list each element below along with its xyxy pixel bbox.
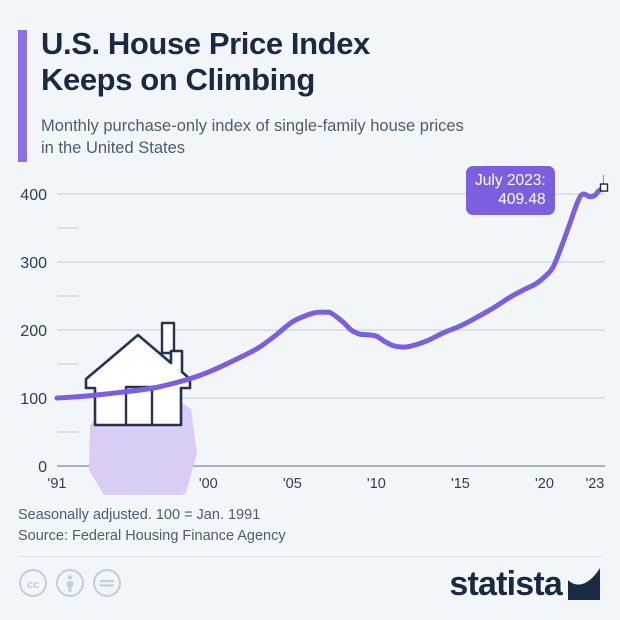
x-axis-tick-label: '05 xyxy=(283,476,302,492)
title-line-1: U.S. House Price Index xyxy=(41,26,601,62)
y-axis-tick-label: 200 xyxy=(20,323,47,340)
statista-wordmark: statista xyxy=(449,566,562,602)
house-illustration: $ xyxy=(86,323,197,495)
title-line-2: Keeps on Climbing xyxy=(41,62,601,98)
x-axis-tick-label: '23 xyxy=(585,476,604,492)
cc-nd-icon[interactable] xyxy=(92,568,122,598)
page-title: U.S. House Price Index Keeps on Climbing xyxy=(41,26,601,98)
y-axis-labels: 0100200300400 xyxy=(20,187,47,476)
statista-logo[interactable]: statista xyxy=(449,566,602,602)
footnote-note: Seasonally adjusted. 100 = Jan. 1991 xyxy=(18,505,598,526)
header: U.S. House Price Index Keeps on Climbing… xyxy=(0,0,620,175)
x-axis-tick-label: '10 xyxy=(367,476,386,492)
x-axis-tick-label: '20 xyxy=(535,476,554,492)
bottom-bar: cc statista xyxy=(0,560,620,620)
svg-text:cc: cc xyxy=(27,579,39,591)
y-axis-tick-label: 400 xyxy=(20,187,47,204)
x-axis-tick-label: '91 xyxy=(48,476,67,492)
callout-value: 409.48 xyxy=(475,190,546,209)
house-chimney xyxy=(162,323,174,353)
endpoint-marker xyxy=(600,184,607,191)
footer-divider xyxy=(18,556,602,557)
page-subtitle: Monthly purchase-only index of single-fa… xyxy=(41,115,606,159)
creative-commons-icons: cc xyxy=(18,568,122,598)
cc-icon[interactable]: cc xyxy=(18,568,48,598)
x-axis-tick-label: '15 xyxy=(451,476,470,492)
callout-label: July 2023: 409.48 xyxy=(466,166,555,215)
chart-svg: 0100200300400 '91'95'00'05'10'15'20'23 $ xyxy=(0,175,620,495)
subtitle-line-1: Monthly purchase-only index of single-fa… xyxy=(41,115,606,137)
y-axis-tick-label: 100 xyxy=(20,391,47,408)
x-axis-tick-label: '00 xyxy=(199,476,218,492)
callout-date: July 2023: xyxy=(475,171,546,190)
subtitle-line-2: in the United States xyxy=(41,137,606,159)
statista-mark-icon xyxy=(566,566,602,602)
y-axis-tick-label: 300 xyxy=(20,255,47,272)
line-chart: 0100200300400 '91'95'00'05'10'15'20'23 $ xyxy=(0,175,620,495)
cc-by-icon[interactable] xyxy=(55,568,85,598)
footnotes: Seasonally adjusted. 100 = Jan. 1991 Sou… xyxy=(18,505,598,547)
y-axis-tick-label: 0 xyxy=(38,459,47,476)
footnote-source: Source: Federal Housing Finance Agency xyxy=(18,526,598,547)
accent-bar xyxy=(18,30,27,162)
